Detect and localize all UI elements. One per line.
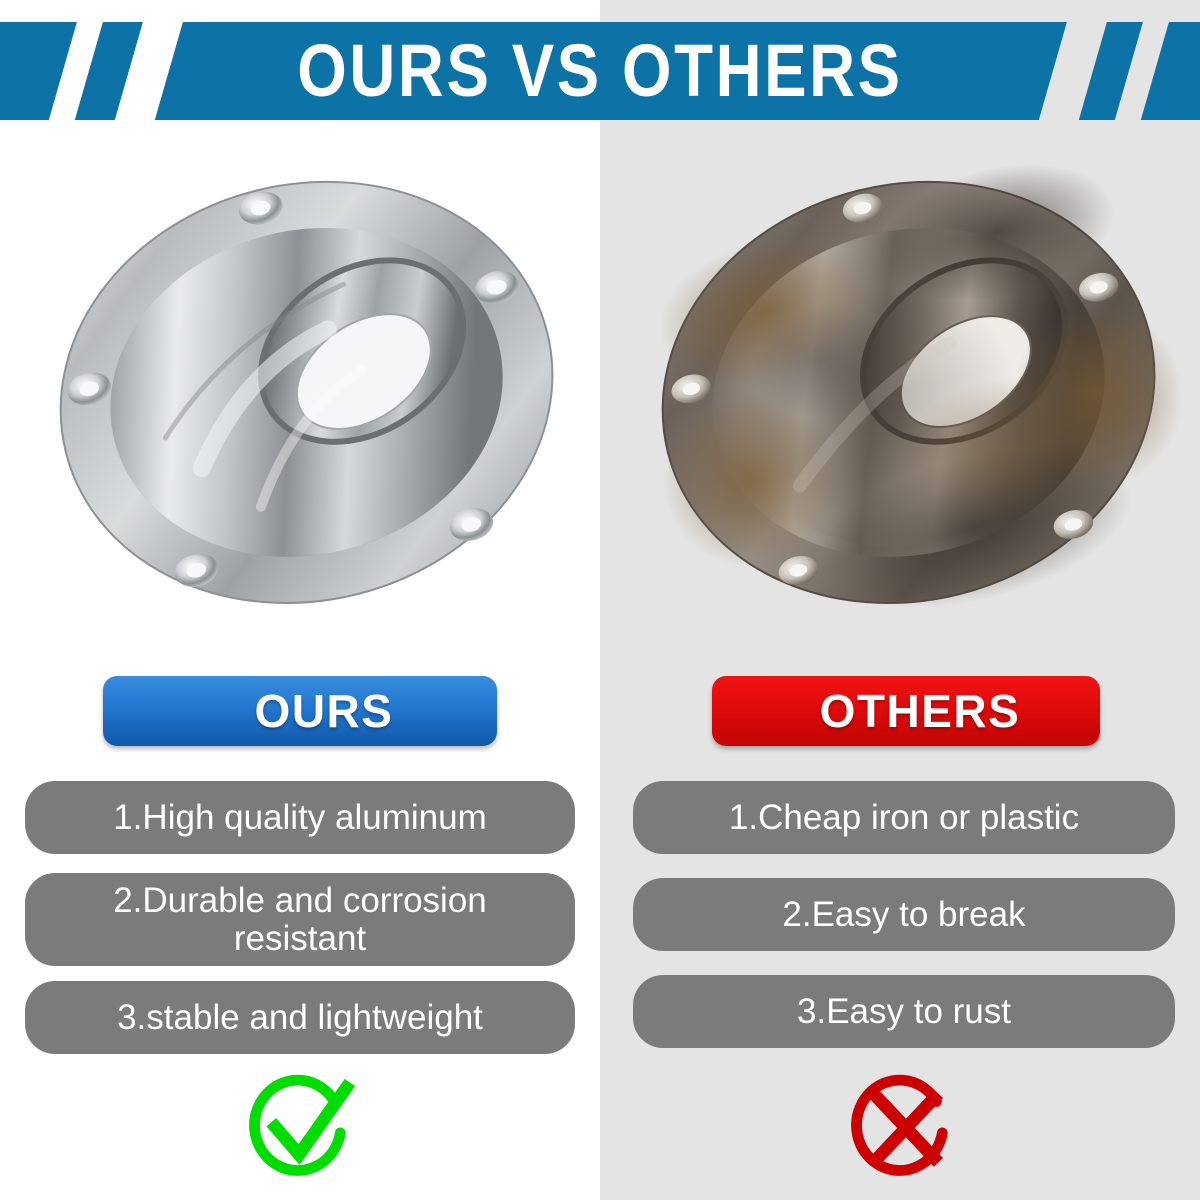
list-item: 1.Cheap iron or plastic — [633, 781, 1175, 854]
header-banner: OURS VS OTHERS — [0, 22, 1200, 120]
comparison-infographic: OURS VS OTHERS — [0, 0, 1200, 1200]
feature-text: 2.Durable and corrosion resistant — [43, 882, 557, 956]
cross-circle-icon — [846, 1072, 964, 1184]
list-item: 1.High quality aluminum — [25, 781, 575, 854]
product-image-ours — [38, 140, 578, 640]
product-image-others — [640, 140, 1180, 640]
page-title: OURS VS OTHERS — [84, 22, 1116, 120]
list-item: 2.Easy to break — [633, 878, 1175, 951]
check-circle-icon — [244, 1072, 362, 1184]
badge-others-label: OTHERS — [712, 676, 1100, 746]
list-item: 3.Easy to rust — [633, 975, 1175, 1048]
badge-others: OTHERS — [712, 676, 1100, 746]
banner-slash-right-outer — [1108, 22, 1174, 120]
feature-text: 1.High quality aluminum — [113, 799, 487, 836]
list-item: 3.stable and lightweight — [25, 981, 575, 1054]
feature-text: 3.stable and lightweight — [117, 999, 483, 1036]
badge-ours-label: OURS — [103, 676, 497, 746]
feature-text: 3.Easy to rust — [797, 993, 1011, 1030]
list-item: 2.Durable and corrosion resistant — [25, 873, 575, 966]
badge-ours: OURS — [103, 676, 497, 746]
feature-text: 1.Cheap iron or plastic — [729, 799, 1079, 836]
feature-text: 2.Easy to break — [782, 896, 1025, 933]
